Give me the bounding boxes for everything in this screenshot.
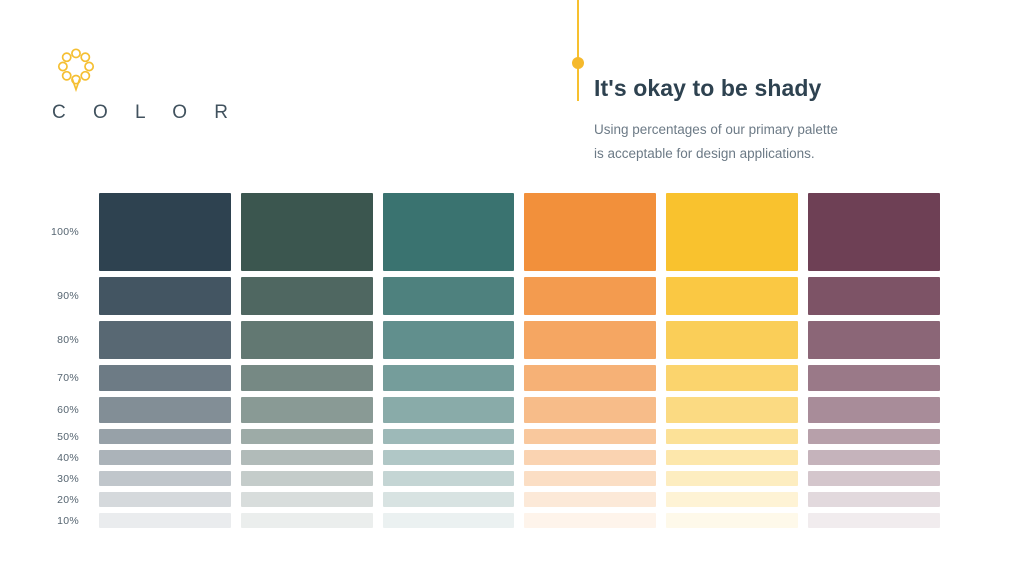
palette-row: 60% xyxy=(99,397,940,423)
swatch-orange-50pct[interactable] xyxy=(524,429,656,444)
swatch-dark-pine-green-10pct[interactable] xyxy=(241,513,373,528)
header-text-block: It's okay to be shady Using percentages … xyxy=(594,74,964,166)
swatch-orange-80pct[interactable] xyxy=(524,321,656,359)
flower-badge-icon xyxy=(56,48,96,92)
palette-row: 100% xyxy=(99,193,940,271)
accent-dot-marker xyxy=(572,57,584,69)
swatch-plum-50pct[interactable] xyxy=(808,429,940,444)
swatch-orange-90pct[interactable] xyxy=(524,277,656,315)
swatch-orange-70pct[interactable] xyxy=(524,365,656,391)
swatch-orange-100pct[interactable] xyxy=(524,193,656,271)
swatch-gold-yellow-100pct[interactable] xyxy=(666,193,798,271)
swatch-plum-60pct[interactable] xyxy=(808,397,940,423)
palette-row-label: 50% xyxy=(57,431,79,443)
swatch-dark-slate-blue-60pct[interactable] xyxy=(99,397,231,423)
swatch-plum-90pct[interactable] xyxy=(808,277,940,315)
swatch-dark-pine-green-100pct[interactable] xyxy=(241,193,373,271)
palette-row: 90% xyxy=(99,277,940,315)
swatch-dark-pine-green-80pct[interactable] xyxy=(241,321,373,359)
swatch-plum-100pct[interactable] xyxy=(808,193,940,271)
subcopy-line-2: is acceptable for design applications. xyxy=(594,146,815,161)
swatch-teal-20pct[interactable] xyxy=(383,492,515,507)
swatch-dark-pine-green-70pct[interactable] xyxy=(241,365,373,391)
swatch-plum-40pct[interactable] xyxy=(808,450,940,465)
swatch-teal-80pct[interactable] xyxy=(383,321,515,359)
swatch-teal-100pct[interactable] xyxy=(383,193,515,271)
swatch-dark-pine-green-40pct[interactable] xyxy=(241,450,373,465)
brand-wordmark: C O L O R xyxy=(52,102,272,124)
swatch-teal-50pct[interactable] xyxy=(383,429,515,444)
subcopy-line-1: Using percentages of our primary palette xyxy=(594,122,838,137)
swatch-dark-slate-blue-70pct[interactable] xyxy=(99,365,231,391)
palette-row: 80% xyxy=(99,321,940,359)
swatch-gold-yellow-30pct[interactable] xyxy=(666,471,798,486)
palette-row: 70% xyxy=(99,365,940,391)
swatch-gold-yellow-70pct[interactable] xyxy=(666,365,798,391)
swatch-orange-20pct[interactable] xyxy=(524,492,656,507)
accent-vertical-rule xyxy=(577,0,579,101)
swatch-dark-slate-blue-30pct[interactable] xyxy=(99,471,231,486)
swatch-dark-slate-blue-90pct[interactable] xyxy=(99,277,231,315)
swatch-orange-40pct[interactable] xyxy=(524,450,656,465)
color-palette-grid: 100%90%80%70%60%50%40%30%20%10% xyxy=(99,193,940,528)
palette-row-label: 70% xyxy=(57,372,79,384)
swatch-plum-10pct[interactable] xyxy=(808,513,940,528)
palette-row-label: 60% xyxy=(57,404,79,416)
swatch-gold-yellow-10pct[interactable] xyxy=(666,513,798,528)
swatch-plum-30pct[interactable] xyxy=(808,471,940,486)
swatch-dark-pine-green-60pct[interactable] xyxy=(241,397,373,423)
swatch-dark-slate-blue-100pct[interactable] xyxy=(99,193,231,271)
palette-row-label: 30% xyxy=(57,473,79,485)
swatch-gold-yellow-80pct[interactable] xyxy=(666,321,798,359)
palette-row-label: 80% xyxy=(57,334,79,346)
palette-row-label: 100% xyxy=(51,226,79,238)
palette-row: 50% xyxy=(99,429,940,444)
swatch-orange-60pct[interactable] xyxy=(524,397,656,423)
swatch-teal-70pct[interactable] xyxy=(383,365,515,391)
swatch-plum-20pct[interactable] xyxy=(808,492,940,507)
swatch-teal-60pct[interactable] xyxy=(383,397,515,423)
swatch-teal-90pct[interactable] xyxy=(383,277,515,315)
swatch-orange-30pct[interactable] xyxy=(524,471,656,486)
palette-row: 10% xyxy=(99,513,940,528)
swatch-plum-80pct[interactable] xyxy=(808,321,940,359)
swatch-teal-30pct[interactable] xyxy=(383,471,515,486)
swatch-dark-pine-green-20pct[interactable] xyxy=(241,492,373,507)
swatch-gold-yellow-90pct[interactable] xyxy=(666,277,798,315)
swatch-dark-slate-blue-50pct[interactable] xyxy=(99,429,231,444)
swatch-teal-10pct[interactable] xyxy=(383,513,515,528)
swatch-gold-yellow-40pct[interactable] xyxy=(666,450,798,465)
palette-row-label: 20% xyxy=(57,494,79,506)
swatch-gold-yellow-50pct[interactable] xyxy=(666,429,798,444)
brand-logo-block: C O L O R xyxy=(52,48,272,124)
swatch-dark-slate-blue-80pct[interactable] xyxy=(99,321,231,359)
palette-row-label: 40% xyxy=(57,452,79,464)
palette-row-label: 10% xyxy=(57,515,79,527)
page-subcopy: Using percentages of our primary palette… xyxy=(594,118,964,166)
swatch-gold-yellow-60pct[interactable] xyxy=(666,397,798,423)
swatch-teal-40pct[interactable] xyxy=(383,450,515,465)
swatch-dark-slate-blue-40pct[interactable] xyxy=(99,450,231,465)
swatch-orange-10pct[interactable] xyxy=(524,513,656,528)
swatch-gold-yellow-20pct[interactable] xyxy=(666,492,798,507)
palette-row: 20% xyxy=(99,492,940,507)
palette-row: 30% xyxy=(99,471,940,486)
palette-row: 40% xyxy=(99,450,940,465)
page-title: It's okay to be shady xyxy=(594,74,964,102)
palette-row-label: 90% xyxy=(57,290,79,302)
swatch-dark-slate-blue-10pct[interactable] xyxy=(99,513,231,528)
swatch-dark-pine-green-90pct[interactable] xyxy=(241,277,373,315)
swatch-plum-70pct[interactable] xyxy=(808,365,940,391)
swatch-dark-slate-blue-20pct[interactable] xyxy=(99,492,231,507)
swatch-dark-pine-green-30pct[interactable] xyxy=(241,471,373,486)
swatch-dark-pine-green-50pct[interactable] xyxy=(241,429,373,444)
